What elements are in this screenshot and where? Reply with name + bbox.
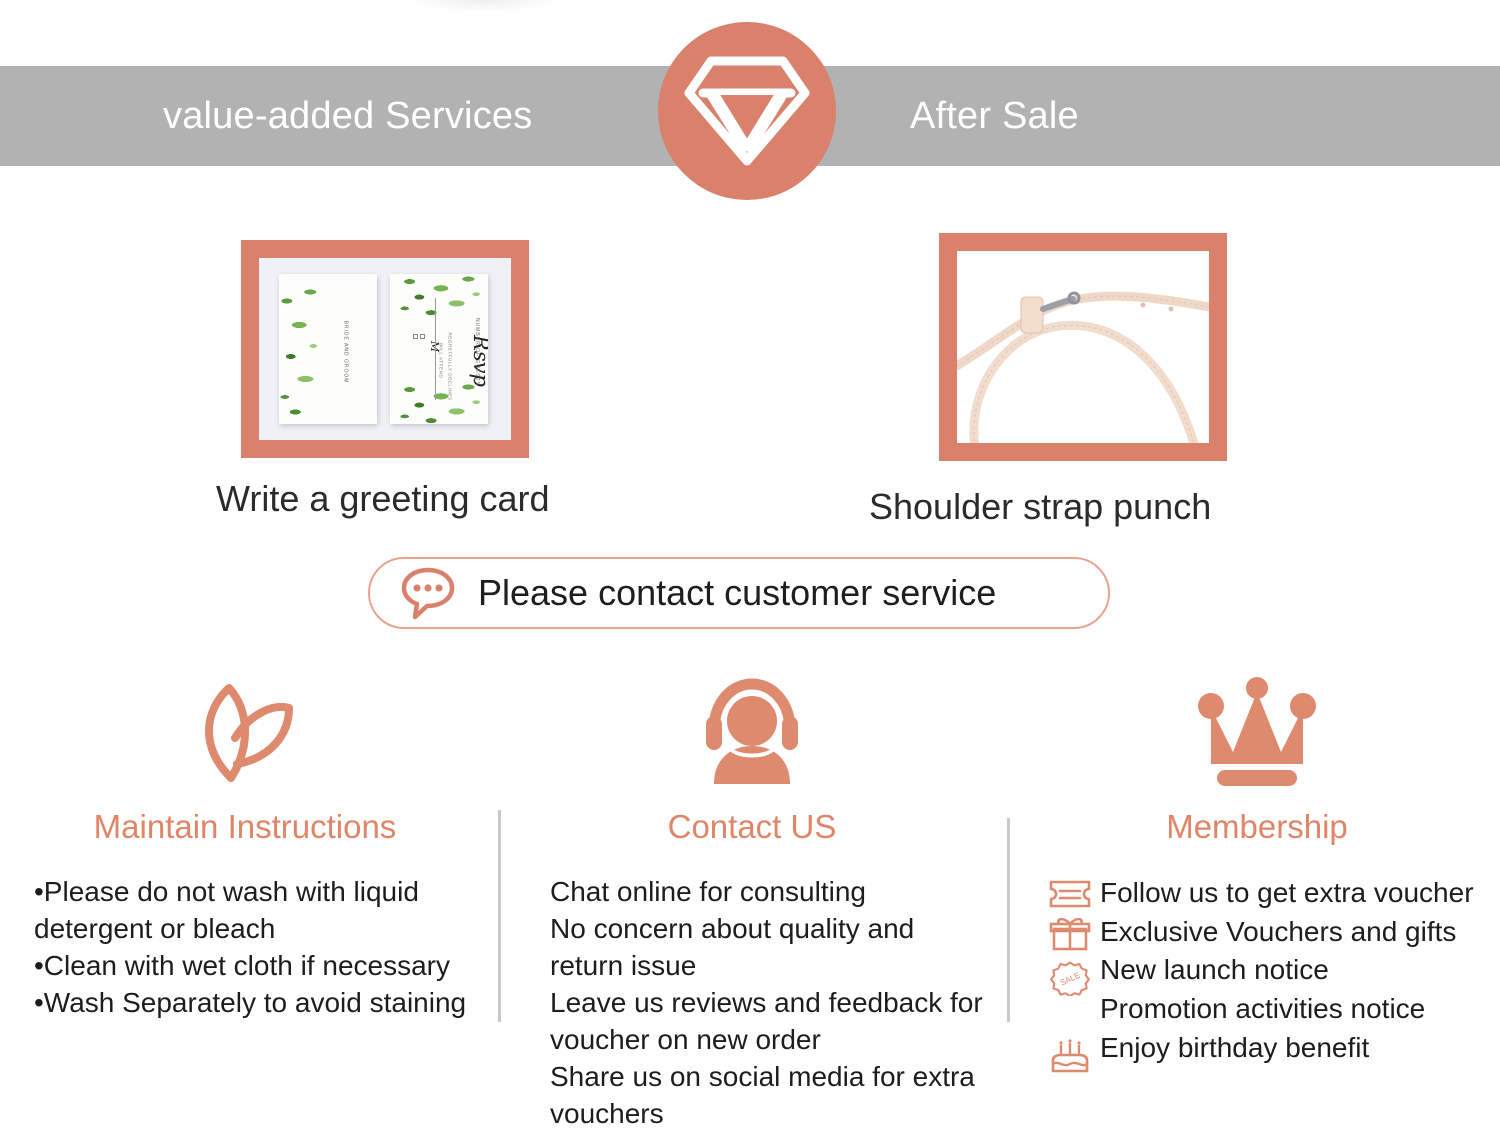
info-columns: Maintain Instructions •Please do not was… (0, 668, 1500, 1138)
top-smudge (410, 0, 560, 12)
column-contact-us: Contact US Chat online for consulting No… (512, 668, 992, 1133)
rsvp-card: Rsvp NUMBER OF GUESTS M WILL ATTEND REGR… (390, 274, 488, 423)
maintain-line: •Clean with wet cloth if necessary (34, 948, 480, 985)
membership-item: Enjoy birthday benefit (1100, 1029, 1492, 1068)
strap-illustration-icon (957, 251, 1209, 443)
birthday-cake-icon (1048, 1038, 1092, 1074)
diamond-v-icon (681, 49, 813, 173)
sale-badge-text: SALE (1059, 970, 1082, 987)
maintain-line: •Please do not wash with liquid (34, 874, 480, 911)
contact-line: Chat online for consulting (550, 874, 992, 911)
crown-icon (1189, 674, 1325, 786)
banner-label-after-sale: After Sale (910, 66, 1079, 166)
gift-icon (1048, 916, 1092, 952)
contact-line: return issue (550, 948, 992, 985)
membership-item: Exclusive Vouchers and gifts (1100, 913, 1492, 952)
sale-badge-icon: SALE (1048, 960, 1092, 996)
maintain-line: detergent or bleach (34, 911, 480, 948)
crown-icon-wrap (1022, 668, 1492, 786)
thank-you-subtext: BRIDE AND GROOM (343, 321, 349, 384)
headset-support-icon (700, 678, 804, 786)
ticket-icon (1048, 876, 1092, 912)
greeting-card-artwork: Thank you BRIDE AND GROOM Rsvp NUMBER OF… (259, 258, 511, 440)
diamond-v-logo (658, 22, 836, 200)
contact-line: voucher on new order (550, 1022, 992, 1059)
contact-line: Share us on social media for extra (550, 1059, 992, 1096)
rsvp-option-decline: REGRETFULLY DECLINES (447, 332, 452, 400)
rsvp-name-rule (435, 298, 436, 399)
foliage-decoration-top-icon (390, 274, 488, 316)
contact-line: Leave us reviews and feedback for (550, 985, 992, 1022)
column-maintain-instructions: Maintain Instructions •Please do not was… (10, 668, 480, 1022)
contact-customer-service-label: Please contact customer service (478, 572, 996, 614)
rsvp-option-attend: WILL ATTEND (439, 343, 444, 379)
product-image-frame-greeting-card: Thank you BRIDE AND GROOM Rsvp NUMBER OF… (241, 240, 529, 458)
contact-us-body: Chat online for consulting No concern ab… (512, 874, 992, 1133)
rsvp-checkbox-decline (413, 334, 418, 339)
headset-support-icon-wrap (512, 668, 992, 786)
product-caption-greeting-card: Write a greeting card (216, 478, 550, 520)
rsvp-subtext: NUMBER OF GUESTS (474, 318, 480, 386)
foliage-decoration-icon (279, 274, 318, 423)
shoulder-strap-photo (957, 251, 1209, 443)
column-membership: Membership S (1022, 668, 1492, 1067)
shoulder-strap-artwork (957, 251, 1209, 443)
foliage-decoration-bottom-icon (390, 382, 488, 424)
leaf-icon (189, 682, 301, 786)
membership-item: Promotion activities notice (1100, 990, 1492, 1029)
membership-benefits-list: SALE Follow us to get extra voucher Excl… (1022, 874, 1492, 1067)
speech-bubble-icon (400, 565, 456, 621)
maintain-instructions-body: •Please do not wash with liquid detergen… (10, 874, 480, 1022)
banner-label-value-added-services: value-added Services (163, 66, 532, 166)
rsvp-checkbox-attend (420, 334, 425, 339)
contact-customer-service-button[interactable]: Please contact customer service (368, 557, 1110, 629)
maintain-line: •Wash Separately to avoid staining (34, 985, 480, 1022)
membership-item: New launch notice (1100, 951, 1492, 990)
thank-you-card: Thank you BRIDE AND GROOM (279, 274, 377, 423)
product-caption-shoulder-strap: Shoulder strap punch (869, 486, 1211, 528)
contact-line: vouchers (550, 1096, 992, 1133)
greeting-card-photo: Thank you BRIDE AND GROOM Rsvp NUMBER OF… (259, 258, 511, 440)
column-title-membership: Membership (1022, 808, 1492, 846)
contact-line: No concern about quality and (550, 911, 992, 948)
leaf-icon-wrap (10, 668, 480, 786)
page-root: value-added Services After Sale Thank yo… (0, 0, 1500, 1145)
membership-item: Follow us to get extra voucher (1100, 874, 1492, 913)
product-image-frame-shoulder-strap (939, 233, 1227, 461)
column-title-contact-us: Contact US (512, 808, 992, 846)
column-title-maintain-instructions: Maintain Instructions (10, 808, 480, 846)
